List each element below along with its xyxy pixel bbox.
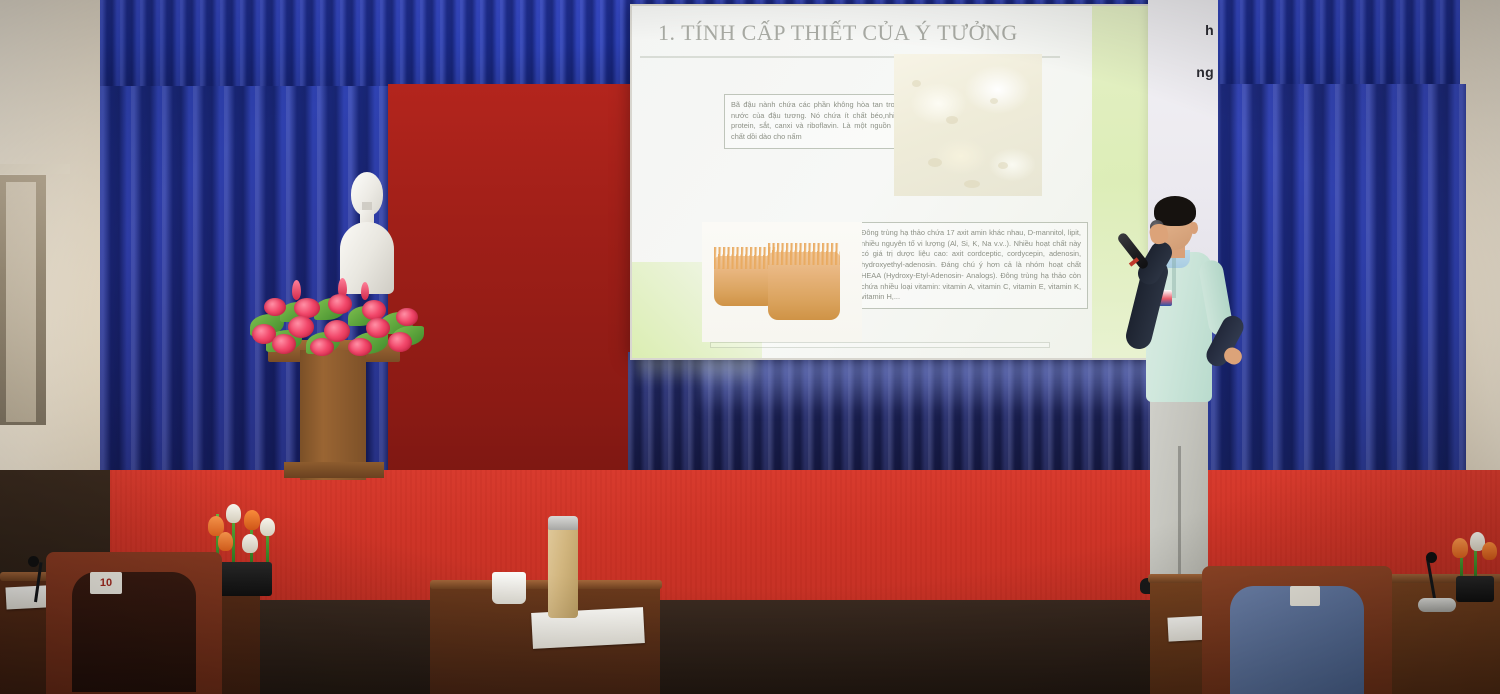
slide-footer-note [710, 342, 1050, 348]
slide-text-block-1: Bã đậu nành chứa các phần không hòa tan … [724, 94, 910, 149]
podium-column [300, 350, 366, 480]
chair-number-label: 10 [90, 572, 122, 594]
lotus-flower-arrangement [244, 268, 432, 358]
bamboo-thermos [548, 522, 578, 618]
thermos-cap [548, 516, 578, 530]
table-center-edge [430, 580, 662, 589]
podium-base [284, 462, 384, 478]
projector-light-spill [700, 358, 1170, 410]
presentation-slide: 1. TÍNH CẤP THIẾT CỦA Ý TƯỞNG Bã đậu nàn… [632, 6, 1188, 358]
banner-text-top: h [1205, 22, 1214, 38]
conference-hall-photo: 1. TÍNH CẤP THIẾT CỦA Ý TƯỞNG Bã đậu nàn… [0, 0, 1500, 694]
paper-cup [492, 572, 526, 604]
slide-text-block-2: Đông trùng hạ thảo chứa 17 axit amin khá… [854, 222, 1088, 309]
okara-soybean-pulp-photo [894, 54, 1042, 196]
wall-ledge [0, 164, 70, 174]
projector-light-spill-edge [636, 356, 756, 386]
cordyceps-militaris-jars-photo [702, 222, 862, 342]
presenter-with-microphone [1110, 196, 1240, 616]
tulip-flower-vase [1442, 520, 1500, 602]
banner-text-main: ng [1196, 64, 1214, 80]
chair-tag-right [1290, 586, 1320, 606]
left-doorway-inner [6, 182, 36, 422]
desk-microphone-head [28, 556, 39, 567]
desk-microphone-head [1426, 552, 1437, 563]
slide-title: 1. TÍNH CẤP THIẾT CỦA Ý TƯỞNG [658, 20, 1176, 46]
projection-screen: 1. TÍNH CẤP THIẾT CỦA Ý TƯỞNG Bã đậu nàn… [630, 4, 1190, 360]
